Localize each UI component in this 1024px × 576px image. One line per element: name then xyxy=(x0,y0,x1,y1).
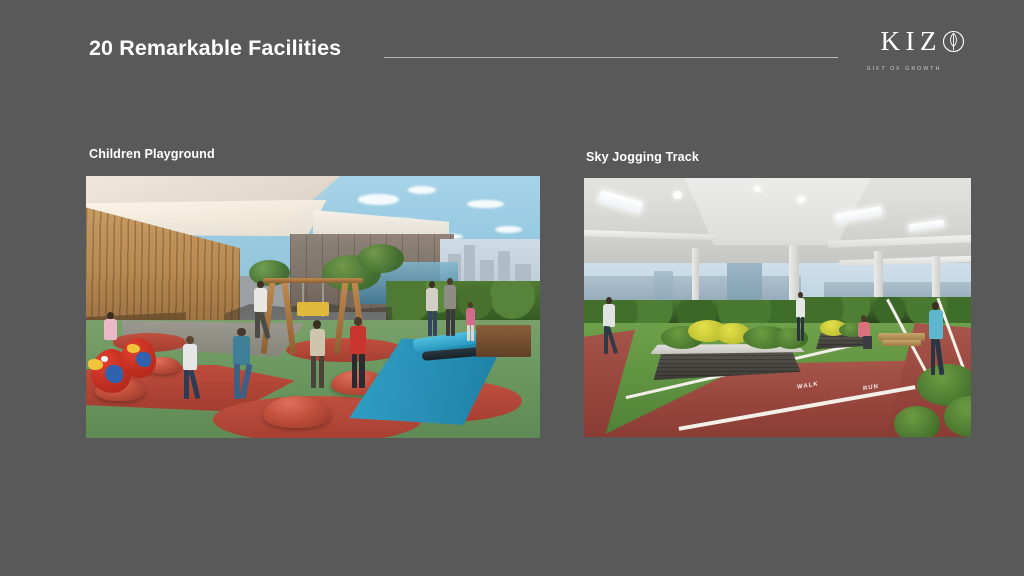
adult-figure xyxy=(440,278,460,336)
photo-sky-jogging-track: WALK RUN xyxy=(584,178,971,437)
brand-logo: KIZ GIFT OF GROWTH xyxy=(846,28,966,72)
caption-sky-jogging-track: Sky Jogging Track xyxy=(586,150,699,164)
play-dome xyxy=(263,396,331,427)
leaf-in-circle-icon xyxy=(941,29,966,54)
child-figure xyxy=(304,320,331,388)
bench xyxy=(882,340,921,346)
tree-foliage xyxy=(358,244,403,273)
ceiling-downlight xyxy=(797,196,805,203)
parrot-wing xyxy=(136,352,151,368)
logo-wordmark: KIZ xyxy=(881,28,942,55)
playground-scene xyxy=(86,176,540,438)
slide-canvas: 20 Remarkable Facilities KIZ GIFT OF GRO… xyxy=(0,0,1024,576)
jogger-figure xyxy=(599,297,618,354)
cloud-1 xyxy=(358,194,399,204)
cloud-5 xyxy=(495,226,522,233)
child-figure xyxy=(100,312,123,354)
adult-figure xyxy=(249,281,272,339)
caption-children-playground: Children Playground xyxy=(89,147,215,161)
title-divider xyxy=(384,57,838,58)
swing-seat xyxy=(297,302,329,316)
parrot-beak xyxy=(127,344,140,353)
parrot-beak xyxy=(88,359,103,369)
child-figure xyxy=(227,328,257,399)
jogger-figure xyxy=(793,292,808,341)
jogger-figure-foreground xyxy=(925,302,948,375)
child-figure xyxy=(345,317,372,388)
child-figure xyxy=(177,336,204,399)
child-figure xyxy=(463,302,478,341)
photo-children-playground xyxy=(86,176,540,438)
logo-wordmark-row: KIZ xyxy=(846,28,966,55)
logo-tagline: GIFT OF GROWTH xyxy=(846,66,966,72)
slide-platform xyxy=(476,325,530,356)
swing-beam xyxy=(263,278,363,283)
seated-figure xyxy=(855,315,874,349)
foreground-shrub xyxy=(894,406,940,437)
page-title: 20 Remarkable Facilities xyxy=(89,36,341,61)
ceiling-downlight xyxy=(673,191,682,199)
jogging-track-scene: WALK RUN xyxy=(584,178,971,437)
